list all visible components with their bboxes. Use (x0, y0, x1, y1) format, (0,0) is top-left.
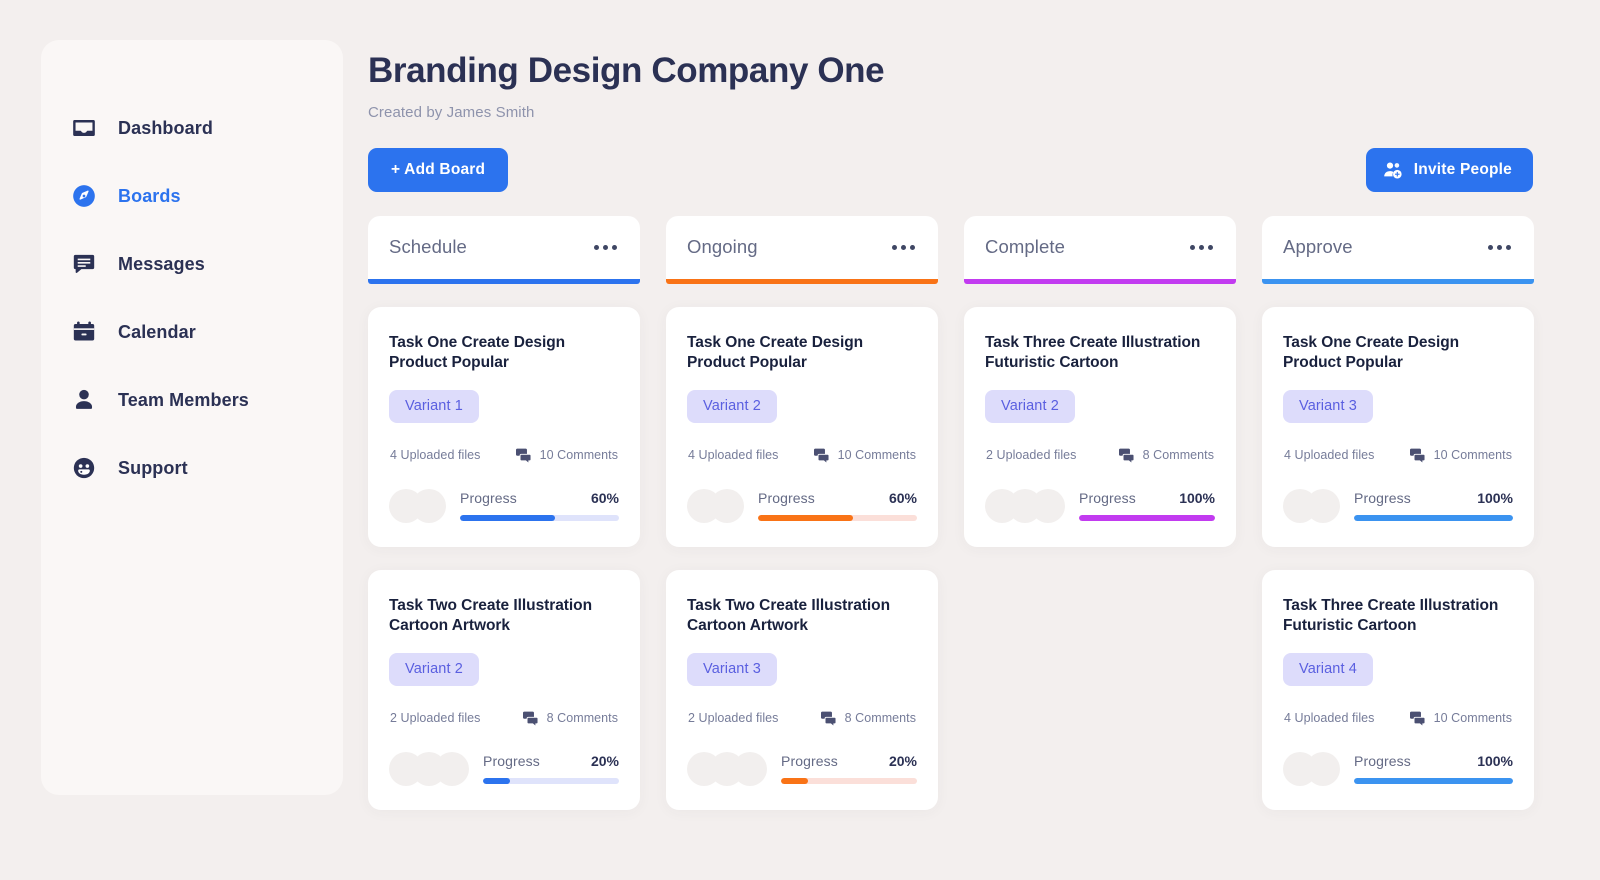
comments-meta[interactable]: 10 Comments (515, 448, 618, 463)
comment-bubbles-icon (1409, 711, 1426, 726)
comments-meta[interactable]: 10 Comments (1409, 711, 1512, 726)
comments-count: 8 Comments (547, 711, 618, 725)
page-title: Branding Design Company One (368, 52, 1600, 91)
uploaded-files-count: 4 Uploaded files (1284, 448, 1374, 462)
task-meta: 4 Uploaded files 10 Comments (389, 448, 619, 463)
compass-icon (69, 181, 99, 211)
comment-bubbles-icon (820, 711, 837, 726)
sidebar-item-dashboard[interactable]: Dashboard (41, 94, 343, 162)
progress-label: Progress (781, 753, 838, 769)
sidebar-nav: DashboardBoardsMessagesCalendarTeam Memb… (41, 94, 343, 502)
comments-meta[interactable]: 8 Comments (820, 711, 916, 726)
invite-people-label: Invite People (1414, 161, 1512, 179)
comments-meta[interactable]: 8 Comments (522, 711, 618, 726)
column-cards-ongoing: Task One Create Design Product Popular V… (666, 307, 938, 810)
ellipsis-icon[interactable] (890, 239, 917, 256)
task-title: Task Three Create Illustration Futuristi… (985, 333, 1215, 374)
progress-bar (1354, 778, 1513, 784)
uploaded-files-count: 2 Uploaded files (688, 711, 778, 725)
sidebar-item-label: Team Members (118, 390, 249, 411)
variant-badge[interactable]: Variant 2 (389, 653, 479, 686)
task-card[interactable]: Task One Create Design Product Popular V… (368, 307, 640, 547)
support-face-icon (69, 453, 99, 483)
avatar (1031, 489, 1065, 523)
progress-row: Progress 20% (389, 752, 619, 786)
comments-count: 10 Comments (1434, 711, 1512, 725)
avatar (710, 489, 744, 523)
comment-bubbles-icon (522, 711, 539, 726)
inbox-icon (69, 113, 99, 143)
progress-bar (483, 778, 619, 784)
comments-meta[interactable]: 10 Comments (813, 448, 916, 463)
column-title: Schedule (389, 236, 467, 258)
progress-percent: 60% (591, 490, 619, 506)
progress-label: Progress (483, 753, 540, 769)
column-header-ongoing[interactable]: Ongoing (666, 216, 938, 284)
progress-bar (460, 515, 619, 521)
action-row: + Add Board Invite People (368, 148, 1533, 192)
task-meta: 4 Uploaded files 10 Comments (687, 448, 917, 463)
variant-badge[interactable]: Variant 4 (1283, 653, 1373, 686)
uploaded-files-count: 4 Uploaded files (688, 448, 778, 462)
progress-row: Progress 100% (1283, 489, 1513, 523)
sidebar-item-label: Messages (118, 254, 205, 275)
task-title: Task One Create Design Product Popular (687, 333, 917, 374)
comments-meta[interactable]: 8 Comments (1118, 448, 1214, 463)
column-title: Complete (985, 236, 1065, 258)
user-icon (69, 385, 99, 415)
avatar (412, 489, 446, 523)
sidebar-item-boards[interactable]: Boards (41, 162, 343, 230)
sidebar-item-team-members[interactable]: Team Members (41, 366, 343, 434)
task-title: Task Two Create Illustration Cartoon Art… (687, 596, 917, 637)
sidebar-item-label: Dashboard (118, 118, 213, 139)
task-meta: 2 Uploaded files 8 Comments (985, 448, 1215, 463)
uploaded-files-count: 2 Uploaded files (390, 711, 480, 725)
progress-bar (1079, 515, 1215, 521)
progress-label: Progress (1354, 490, 1411, 506)
sidebar-item-messages[interactable]: Messages (41, 230, 343, 298)
calendar-icon (69, 317, 99, 347)
task-title: Task One Create Design Product Popular (1283, 333, 1513, 374)
task-meta: 2 Uploaded files 8 Comments (687, 711, 917, 726)
board-column-approve: Approve Task One Create Design Product P… (1262, 216, 1534, 810)
column-header-approve[interactable]: Approve (1262, 216, 1534, 284)
progress-row: Progress 100% (1283, 752, 1513, 786)
sidebar-item-label: Support (118, 458, 188, 479)
main-content: Branding Design Company One Created by J… (368, 0, 1600, 880)
kanban-board: Schedule Task One Create Design Product … (368, 216, 1600, 810)
progress-wrap: Progress 100% (1079, 490, 1215, 521)
progress-label: Progress (1354, 753, 1411, 769)
board-column-schedule: Schedule Task One Create Design Product … (368, 216, 640, 810)
comment-bubbles-icon (1409, 448, 1426, 463)
progress-percent: 100% (1477, 753, 1513, 769)
task-card[interactable]: Task One Create Design Product Popular V… (666, 307, 938, 547)
avatar-group (985, 489, 1065, 523)
comment-bubbles-icon (515, 448, 532, 463)
avatar (1306, 489, 1340, 523)
progress-bar (1354, 515, 1513, 521)
ellipsis-icon[interactable] (592, 239, 619, 256)
avatar-group (389, 489, 446, 523)
comment-bubbles-icon (813, 448, 830, 463)
task-meta: 4 Uploaded files 10 Comments (1283, 448, 1513, 463)
variant-badge[interactable]: Variant 1 (389, 390, 479, 423)
progress-label: Progress (460, 490, 517, 506)
sidebar-item-label: Calendar (118, 322, 196, 343)
avatar-group (389, 752, 469, 786)
sidebar-item-support[interactable]: Support (41, 434, 343, 502)
variant-badge[interactable]: Variant 3 (687, 653, 777, 686)
sidebar-item-label: Boards (118, 186, 181, 207)
column-cards-approve: Task One Create Design Product Popular V… (1262, 307, 1534, 810)
uploaded-files-count: 4 Uploaded files (390, 448, 480, 462)
comments-count: 10 Comments (1434, 448, 1512, 462)
invite-people-button[interactable]: Invite People (1366, 148, 1533, 192)
app-root: DashboardBoardsMessagesCalendarTeam Memb… (0, 0, 1600, 880)
progress-percent: 20% (591, 753, 619, 769)
variant-badge[interactable]: Variant 3 (1283, 390, 1373, 423)
task-meta: 2 Uploaded files 8 Comments (389, 711, 619, 726)
comment-bubbles-icon (1118, 448, 1135, 463)
progress-label: Progress (758, 490, 815, 506)
avatar-group (687, 489, 744, 523)
ellipsis-icon[interactable] (1486, 239, 1513, 256)
progress-bar-fill (460, 515, 555, 521)
page-subtitle: Created by James Smith (368, 104, 1600, 121)
board-column-complete: Complete Task Three Create Illustration … (964, 216, 1236, 810)
add-board-button[interactable]: + Add Board (368, 148, 508, 192)
variant-badge[interactable]: Variant 2 (985, 390, 1075, 423)
comments-count: 8 Comments (1143, 448, 1214, 462)
progress-row: Progress 100% (985, 489, 1215, 523)
progress-wrap: Progress 60% (460, 490, 619, 521)
user-plus-icon (1383, 160, 1403, 180)
column-title: Ongoing (687, 236, 758, 258)
progress-wrap: Progress 60% (758, 490, 917, 521)
comments-count: 10 Comments (540, 448, 618, 462)
progress-wrap: Progress 100% (1354, 490, 1513, 521)
comments-count: 10 Comments (838, 448, 916, 462)
progress-percent: 20% (889, 753, 917, 769)
progress-row: Progress 60% (687, 489, 917, 523)
progress-bar-fill (758, 515, 853, 521)
progress-bar-fill (483, 778, 510, 784)
avatar (435, 752, 469, 786)
task-card[interactable]: Task Two Create Illustration Cartoon Art… (666, 570, 938, 810)
task-card[interactable]: Task Two Create Illustration Cartoon Art… (368, 570, 640, 810)
progress-row: Progress 60% (389, 489, 619, 523)
progress-percent: 100% (1179, 490, 1215, 506)
task-title: Task Three Create Illustration Futuristi… (1283, 596, 1513, 637)
task-meta: 4 Uploaded files 10 Comments (1283, 711, 1513, 726)
column-title: Approve (1283, 236, 1353, 258)
sidebar: DashboardBoardsMessagesCalendarTeam Memb… (41, 40, 343, 795)
ellipsis-icon[interactable] (1188, 239, 1215, 256)
uploaded-files-count: 4 Uploaded files (1284, 711, 1374, 725)
progress-wrap: Progress 20% (483, 753, 619, 784)
task-title: Task Two Create Illustration Cartoon Art… (389, 596, 619, 637)
variant-badge[interactable]: Variant 2 (687, 390, 777, 423)
progress-bar (758, 515, 917, 521)
progress-bar (781, 778, 917, 784)
column-cards-complete: Task Three Create Illustration Futuristi… (964, 307, 1236, 547)
progress-row: Progress 20% (687, 752, 917, 786)
progress-percent: 60% (889, 490, 917, 506)
progress-bar-fill (781, 778, 808, 784)
comments-count: 8 Comments (845, 711, 916, 725)
progress-wrap: Progress 100% (1354, 753, 1513, 784)
column-cards-schedule: Task One Create Design Product Popular V… (368, 307, 640, 810)
avatar-group (1283, 489, 1340, 523)
task-title: Task One Create Design Product Popular (389, 333, 619, 374)
chat-icon (69, 249, 99, 279)
avatar-group (687, 752, 767, 786)
avatar (733, 752, 767, 786)
sidebar-item-calendar[interactable]: Calendar (41, 298, 343, 366)
comments-meta[interactable]: 10 Comments (1409, 448, 1512, 463)
progress-bar-fill (1354, 515, 1513, 521)
avatar-group (1283, 752, 1340, 786)
task-card[interactable]: Task Three Create Illustration Futuristi… (1262, 570, 1534, 810)
progress-bar-fill (1079, 515, 1215, 521)
task-card[interactable]: Task One Create Design Product Popular V… (1262, 307, 1534, 547)
progress-wrap: Progress 20% (781, 753, 917, 784)
progress-bar-fill (1354, 778, 1513, 784)
column-header-schedule[interactable]: Schedule (368, 216, 640, 284)
progress-percent: 100% (1477, 490, 1513, 506)
task-card[interactable]: Task Three Create Illustration Futuristi… (964, 307, 1236, 547)
progress-label: Progress (1079, 490, 1136, 506)
avatar (1306, 752, 1340, 786)
column-header-complete[interactable]: Complete (964, 216, 1236, 284)
uploaded-files-count: 2 Uploaded files (986, 448, 1076, 462)
board-column-ongoing: Ongoing Task One Create Design Product P… (666, 216, 938, 810)
